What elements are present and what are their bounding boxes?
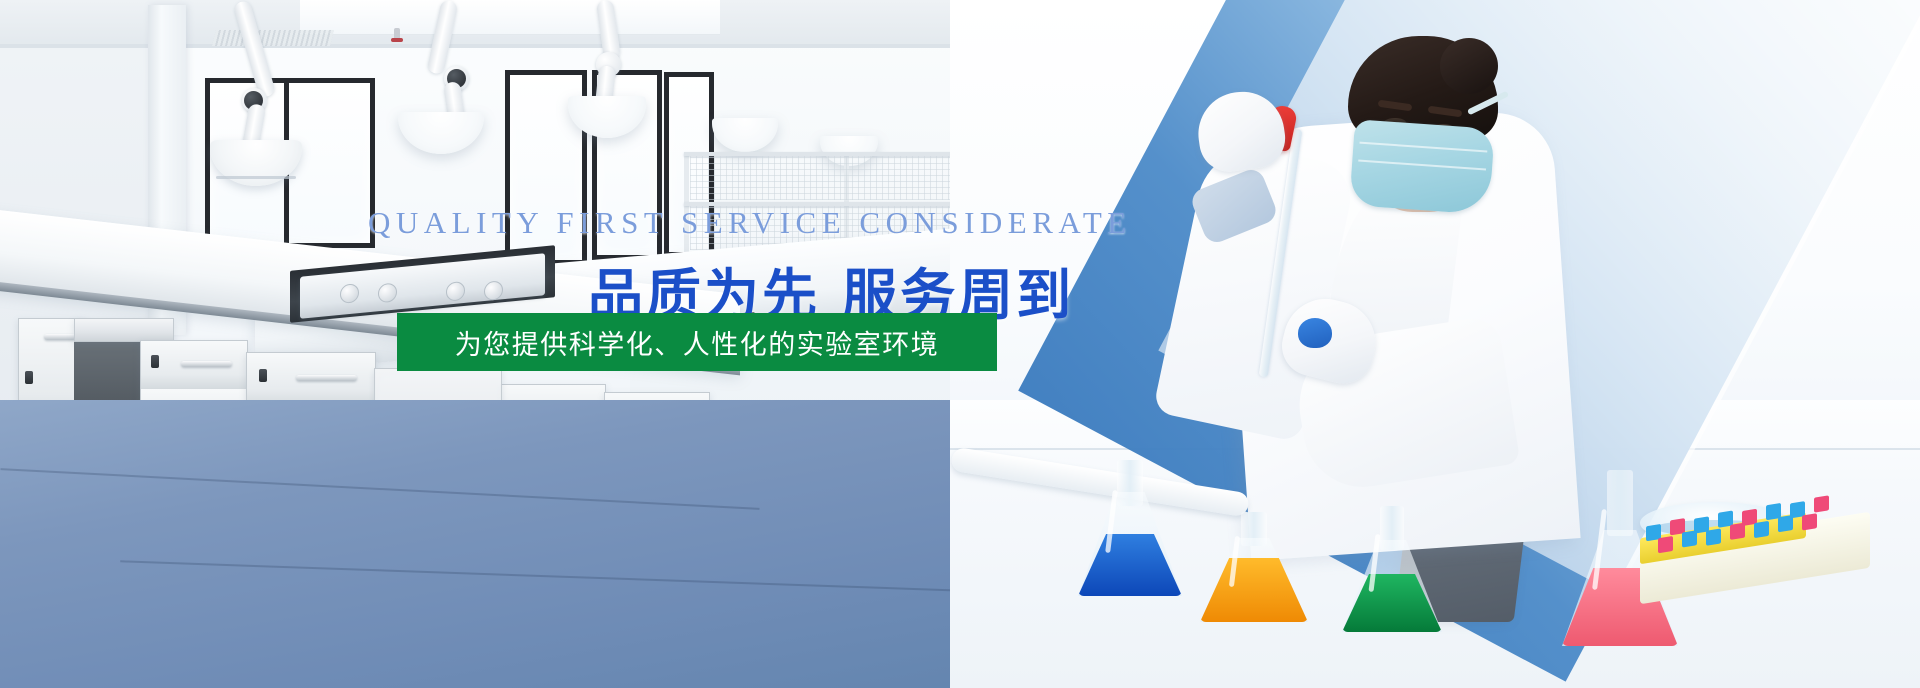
ceiling-panel [300, 0, 720, 35]
ceiling-vent-icon [212, 30, 334, 46]
head [1344, 36, 1504, 226]
surgical-mask [1349, 119, 1495, 215]
hair-bun [1440, 38, 1498, 94]
erlenmeyer-flask-orange [1200, 512, 1308, 622]
subtitle-banner: 为您提供科学化、人性化的实验室环境 [397, 313, 997, 371]
bin-lid [74, 318, 174, 342]
erlenmeyer-flask-green [1342, 506, 1442, 632]
erlenmeyer-flask-blue [1078, 460, 1182, 596]
blue-reagent [1298, 318, 1332, 348]
hero-banner: QUALITY FIRST SERVICE CONSIDERATE 品质为先 服… [0, 0, 1920, 688]
fire-sprinkler-icon [394, 28, 400, 40]
subtitle-text: 为您提供科学化、人性化的实验室环境 [455, 323, 940, 362]
english-tagline: QUALITY FIRST SERVICE CONSIDERATE [368, 205, 1132, 241]
scientist-scene [950, 0, 1920, 688]
epoxy-floor [0, 400, 1020, 688]
